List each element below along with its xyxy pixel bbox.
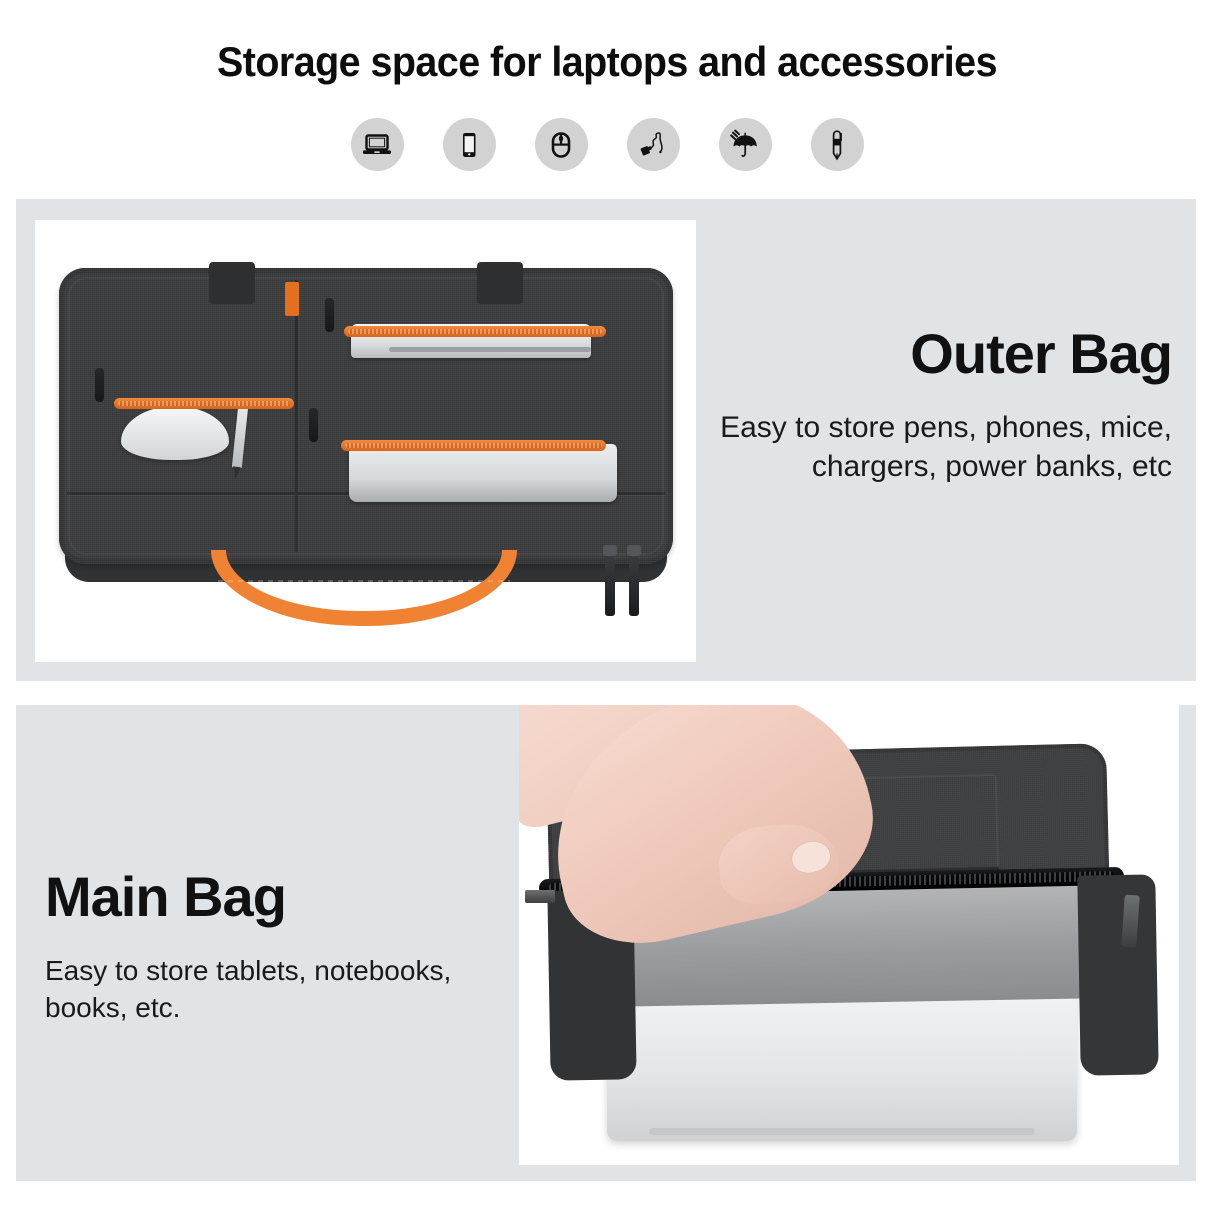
main-zipper-pull-a (605, 554, 615, 616)
laptop-sleeve-open-illustration (519, 705, 1179, 1165)
outer-bag-text-block: Outer Bag Easy to store pens, phones, mi… (672, 325, 1172, 487)
outer-bag-heading: Outer Bag (672, 325, 1172, 384)
zipper-pull-top (325, 298, 334, 332)
sleeve-front-right (1077, 874, 1158, 1075)
zipper-pull-left-2 (525, 890, 555, 903)
main-bag-text-block: Main Bag Easy to store tablets, notebook… (45, 868, 515, 1027)
zipper-left-pocket (114, 398, 294, 409)
outer-bag-photo (35, 220, 696, 662)
pocket-seam-vertical (295, 280, 298, 552)
phone-icon (443, 118, 496, 171)
handle-anchor-right (477, 262, 523, 304)
zipper-pull-left (95, 368, 104, 402)
main-bag-body: Easy to store tablets, notebooks, books,… (45, 953, 515, 1027)
charger-icon (627, 118, 680, 171)
umbrella-icon (719, 118, 772, 171)
page-title: Storage space for laptops and accessorie… (36, 38, 1177, 86)
handle-anchor-left (209, 262, 255, 304)
main-zipper-pull-b (629, 554, 639, 616)
main-bag-heading: Main Bag (45, 868, 515, 927)
pocket-seam-horizontal (67, 492, 665, 495)
handle-arc (211, 550, 517, 626)
laptop-icon (351, 118, 404, 171)
brand-tag (285, 282, 299, 316)
mouse-icon (535, 118, 588, 171)
main-bag-photo (519, 705, 1179, 1165)
fabric-texture (59, 268, 673, 564)
zipper-top-right (344, 326, 606, 337)
bag-body (59, 268, 673, 564)
zipper-pull-middle (309, 408, 318, 442)
stored-tablet (349, 444, 617, 502)
stored-mouse (121, 406, 229, 460)
pen-icon (811, 118, 864, 171)
outer-bag-body: Easy to store pens, phones, mice, charge… (672, 408, 1172, 487)
stored-pen (232, 406, 248, 469)
zipper-bottom-right (341, 440, 606, 451)
stored-phone (351, 324, 591, 358)
carry-handle (211, 550, 517, 626)
laptop-sleeve-flat-illustration (59, 268, 673, 618)
feature-icon-row (0, 118, 1214, 171)
